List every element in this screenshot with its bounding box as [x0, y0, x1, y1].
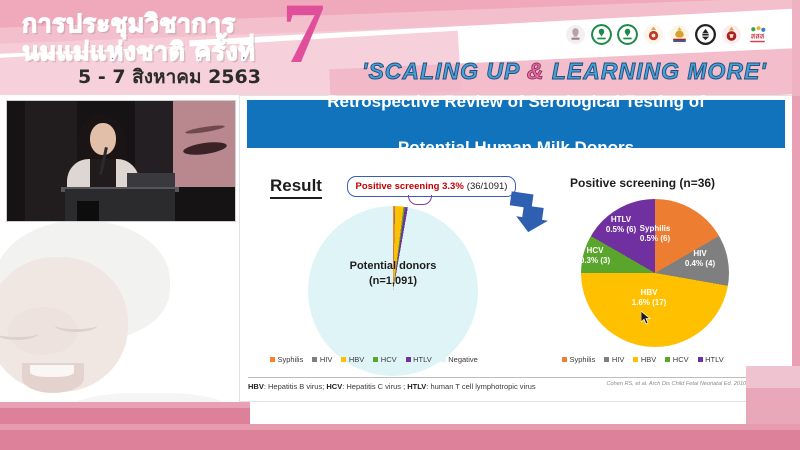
- photo-teeth: [30, 365, 74, 377]
- slice-value-hcv: 0.3% (3): [573, 256, 617, 266]
- legend2-label-hiv: HIV: [612, 355, 625, 364]
- photo-eye-right: [55, 319, 97, 332]
- legend-swatch-negative: [441, 357, 446, 362]
- legend2-item-hcv: HCV: [665, 355, 688, 364]
- callout-percentage: Positive screening 3.3%: [356, 181, 464, 192]
- legend2-item-hbv: HBV: [633, 355, 656, 364]
- footnote-abbr-hcv: HCV: [326, 382, 342, 391]
- callout-brace: [408, 195, 432, 205]
- positive-screening-chart-title: Positive screening (n=36): [570, 176, 715, 190]
- legend2-swatch-syphilis: [562, 357, 567, 362]
- transition-arrow-icon: [505, 188, 553, 236]
- legend2-swatch-hcv: [665, 357, 670, 362]
- legend2-label-syphilis: Syphilis: [570, 355, 596, 364]
- pie-slice-label-hcv: HCV 0.3% (3): [573, 246, 617, 266]
- slice-value-syphilis: 0.5% (6): [626, 234, 684, 244]
- footnote-text-hbv: : Hepatitis B virus;: [264, 382, 327, 391]
- legend2-label-hbv: HBV: [641, 355, 656, 364]
- slide-title: Retrospective Review of Serological Test…: [247, 100, 785, 148]
- green-health-logo-2: [617, 24, 638, 45]
- pie-slice-label-htlv: HTLV 0.5% (6): [596, 215, 646, 235]
- red-crest-logo: [721, 24, 742, 45]
- legend2-swatch-htlv: [698, 357, 703, 362]
- slice-name-hcv: HCV: [573, 246, 617, 256]
- positive-screening-callout: Positive screening 3.3% (36/1091): [347, 176, 516, 197]
- podium-panel: [77, 201, 99, 221]
- slice-name-hbv: HBV: [614, 288, 684, 298]
- legend-label-hcv: HCV: [381, 355, 397, 364]
- legend-swatch-hiv: [312, 357, 317, 362]
- background-child-photo: [0, 215, 250, 430]
- slice-name-hiv: HIV: [677, 249, 723, 259]
- legend-item-hiv: HIV: [312, 355, 332, 364]
- legend2-swatch-hbv: [633, 357, 638, 362]
- conference-header-banner: 7 การประชุมวิชาการ นมแม่แห่งชาติ ครั้งที…: [0, 0, 800, 95]
- garuda-flag-logo: [669, 24, 690, 45]
- frame-bottom-edge: [0, 430, 800, 450]
- pie-slice-label-hiv: HIV 0.4% (4): [677, 249, 723, 269]
- svg-text:สสส: สสส: [751, 32, 765, 41]
- video-wall-panel-right: [135, 101, 175, 179]
- legend-swatch-hbv: [341, 357, 346, 362]
- sponsor-logos: สสส: [565, 24, 768, 45]
- legend-item-syphilis: Syphilis: [270, 355, 303, 364]
- legend-potential-donors: Syphilis HIV HBV HCV HTLV Negative: [270, 355, 478, 364]
- legend-item-negative: Negative: [441, 355, 478, 364]
- legend-swatch-hcv: [373, 357, 378, 362]
- footnote-text-htlv: : human T cell lymphotropic virus: [426, 382, 535, 391]
- callout-fraction: (36/1091): [467, 181, 508, 192]
- legend2-swatch-hiv: [604, 357, 609, 362]
- legend2-item-hiv: HIV: [604, 355, 624, 364]
- tagline-ampersand: &: [527, 58, 545, 84]
- frame-corner-panel-light: [746, 366, 800, 388]
- tagline-part-1: 'SCALING UP: [362, 58, 527, 84]
- pie-slice-label-hbv: HBV 1.6% (17): [614, 288, 684, 308]
- royal-seal-logo: [565, 24, 586, 45]
- speaker-video-inset[interactable]: [6, 100, 236, 222]
- legend-swatch-syphilis: [270, 357, 275, 362]
- legend-label-hbv: HBV: [349, 355, 364, 364]
- edition-number: 7: [282, 0, 325, 76]
- legend-label-negative: Negative: [448, 355, 478, 364]
- legend-item-hbv: HBV: [341, 355, 364, 364]
- thaihealth-logo: สสส: [747, 24, 768, 45]
- frame-right-top-edge: [792, 0, 800, 96]
- speaker-face: [90, 123, 116, 155]
- slice-name-htlv: HTLV: [596, 215, 646, 225]
- slide-screenshot: 7 การประชุมวิชาการ นมแม่แห่งชาติ ครั้งที…: [0, 0, 800, 450]
- footnote-text-hcv: : Hepatitis C virus ;: [342, 382, 407, 391]
- footnote-abbr-hbv: HBV: [248, 382, 264, 391]
- conference-tagline: 'SCALING UP & LEARNING MORE': [362, 58, 767, 85]
- legend-item-htlv: HTLV: [406, 355, 432, 364]
- slide-title-line2: Potential Human Milk Donors: [247, 136, 785, 159]
- legend2-label-htlv: HTLV: [705, 355, 724, 364]
- potential-donors-pie-chart: [308, 206, 478, 376]
- tagline-part-2: LEARNING MORE': [544, 58, 766, 84]
- green-health-logo-1: [591, 24, 612, 45]
- potential-donors-count: (n=1,091): [308, 274, 478, 289]
- legend-positive-screening: Syphilis HIV HBV HCV HTLV: [562, 355, 724, 364]
- slide-title-line1: Retrospective Review of Serological Test…: [247, 90, 785, 113]
- slice-value-hbv: 1.6% (17): [614, 298, 684, 308]
- legend2-label-hcv: HCV: [673, 355, 689, 364]
- footnote-abbr-htlv: HTLV: [407, 382, 426, 391]
- presentation-slide: Retrospective Review of Serological Test…: [240, 96, 792, 401]
- conference-date-thai: 5 - 7 สิงหาคม 2563: [78, 62, 261, 92]
- slice-value-hiv: 0.4% (4): [677, 259, 723, 269]
- orange-emblem-logo: [643, 24, 664, 45]
- legend-swatch-htlv: [406, 357, 411, 362]
- potential-donors-title: Potential donors: [308, 259, 478, 274]
- potential-donors-center-label: Potential donors (n=1,091): [308, 259, 478, 289]
- slice-value-htlv: 0.5% (6): [596, 225, 646, 235]
- legend2-item-syphilis: Syphilis: [562, 355, 595, 364]
- result-heading: Result: [270, 176, 322, 199]
- legend-item-hcv: HCV: [373, 355, 396, 364]
- legend-label-htlv: HTLV: [413, 355, 432, 364]
- legend-label-syphilis: Syphilis: [278, 355, 304, 364]
- black-circle-logo: [695, 24, 716, 45]
- legend2-item-htlv: HTLV: [698, 355, 724, 364]
- legend-label-hiv: HIV: [320, 355, 333, 364]
